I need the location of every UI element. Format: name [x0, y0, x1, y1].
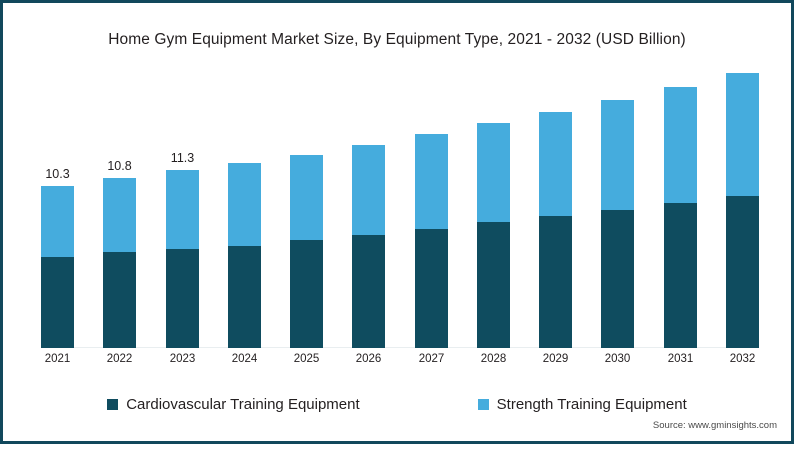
x-tick-2022: 2022 — [103, 353, 136, 365]
bar-value-label-2023: 11.3 — [171, 151, 194, 165]
bar-segment-strength-2028[interactable] — [477, 123, 510, 222]
x-tick-2026: 2026 — [352, 353, 385, 365]
x-tick-2029: 2029 — [539, 353, 572, 365]
x-tick-2023: 2023 — [166, 353, 199, 365]
x-tick-2021: 2021 — [41, 353, 74, 365]
bar-column-2027[interactable] — [415, 134, 448, 348]
bar-column-2021[interactable]: 10.3 — [41, 186, 74, 348]
bar-segment-strength-2024[interactable] — [228, 163, 261, 246]
legend-label: Cardiovascular Training Equipment — [126, 396, 359, 413]
bar-segment-cardiovascular-2028[interactable] — [477, 222, 510, 348]
bar-segment-strength-2021[interactable] — [41, 186, 74, 257]
bar-column-2025[interactable] — [290, 155, 323, 348]
bar-column-2029[interactable] — [539, 112, 572, 348]
bar-column-2028[interactable] — [477, 123, 510, 348]
axis-baseline — [41, 347, 759, 348]
bar-column-2030[interactable] — [601, 100, 634, 348]
bar-segment-strength-2022[interactable] — [103, 178, 136, 252]
chart-frame: Home Gym Equipment Market Size, By Equip… — [0, 0, 794, 444]
bar-column-2026[interactable] — [352, 145, 385, 348]
x-tick-2030: 2030 — [601, 353, 634, 365]
x-tick-2031: 2031 — [664, 353, 697, 365]
x-axis-tick-labels: 2021202220232024202520262027202820292030… — [41, 353, 759, 375]
bar-segment-cardiovascular-2031[interactable] — [664, 203, 697, 348]
bar-segment-cardiovascular-2023[interactable] — [166, 249, 199, 348]
bar-segment-strength-2031[interactable] — [664, 87, 697, 203]
chart-title: Home Gym Equipment Market Size, By Equip… — [3, 31, 791, 49]
legend-item-strength-training-equipment[interactable]: Strength Training Equipment — [478, 396, 687, 413]
legend-label: Strength Training Equipment — [497, 396, 687, 413]
legend-swatch-icon — [107, 399, 118, 410]
bar-value-label-2021: 10.3 — [45, 167, 69, 181]
bar-column-2032[interactable] — [726, 73, 759, 348]
bar-segment-strength-2023[interactable] — [166, 170, 199, 249]
x-tick-2028: 2028 — [477, 353, 510, 365]
bar-segment-strength-2026[interactable] — [352, 145, 385, 235]
bar-segment-strength-2030[interactable] — [601, 100, 634, 210]
bar-segment-cardiovascular-2021[interactable] — [41, 257, 74, 348]
bar-segment-cardiovascular-2032[interactable] — [726, 196, 759, 349]
bar-segment-cardiovascular-2030[interactable] — [601, 210, 634, 348]
source-attribution: Source: www.gminsights.com — [653, 420, 777, 431]
bar-column-2023[interactable]: 11.3 — [166, 170, 199, 348]
x-tick-2025: 2025 — [290, 353, 323, 365]
legend-item-cardiovascular-training-equipment[interactable]: Cardiovascular Training Equipment — [107, 396, 359, 413]
bar-segment-cardiovascular-2024[interactable] — [228, 246, 261, 348]
legend-swatch-icon — [478, 399, 489, 410]
bar-column-2022[interactable]: 10.8 — [103, 178, 136, 348]
bar-segment-cardiovascular-2025[interactable] — [290, 240, 323, 348]
x-tick-2024: 2024 — [228, 353, 261, 365]
bar-segment-cardiovascular-2029[interactable] — [539, 216, 572, 348]
bar-segment-cardiovascular-2022[interactable] — [103, 252, 136, 348]
bar-segment-strength-2027[interactable] — [415, 134, 448, 228]
x-tick-2027: 2027 — [415, 353, 448, 365]
plot-area: 10.310.811.3 — [41, 65, 759, 348]
chart-legend: Cardiovascular Training Equipment Streng… — [3, 391, 791, 417]
bar-value-label-2022: 10.8 — [107, 159, 131, 173]
x-tick-2032: 2032 — [726, 353, 759, 365]
bar-segment-strength-2029[interactable] — [539, 112, 572, 216]
bar-segment-cardiovascular-2026[interactable] — [352, 235, 385, 348]
bar-segment-strength-2025[interactable] — [290, 155, 323, 240]
bar-column-2031[interactable] — [664, 87, 697, 348]
bar-segment-cardiovascular-2027[interactable] — [415, 229, 448, 348]
bar-column-2024[interactable] — [228, 163, 261, 349]
bar-segment-strength-2032[interactable] — [726, 73, 759, 196]
